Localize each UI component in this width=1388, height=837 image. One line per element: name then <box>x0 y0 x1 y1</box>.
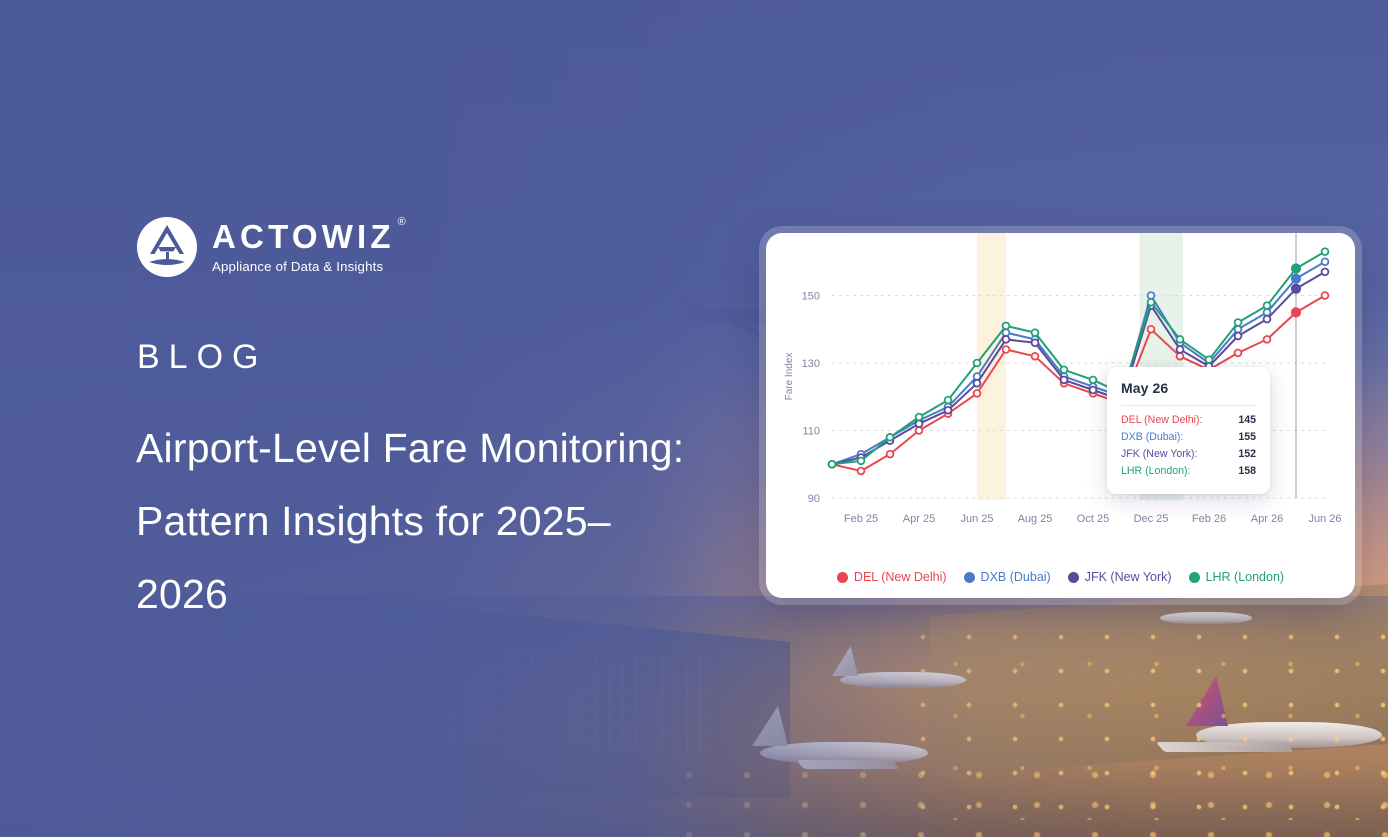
actowiz-a-mark-icon <box>136 216 198 278</box>
legend-label: JFK (New York) <box>1085 570 1172 584</box>
data-point-del[interactable] <box>916 427 923 434</box>
data-point-lhr[interactable] <box>1235 319 1242 326</box>
data-point-jfk[interactable] <box>1090 387 1097 394</box>
data-point-del[interactable] <box>1322 292 1329 299</box>
data-point-lhr[interactable] <box>1177 336 1184 343</box>
tooltip-row-value: 145 <box>1238 414 1256 426</box>
legend-label: DEL (New Delhi) <box>854 570 947 584</box>
page-title: Airport-Level Fare Monitoring: Pattern I… <box>136 412 696 631</box>
tooltip-row: DEL (New Delhi):145 <box>1121 414 1256 426</box>
data-point-lhr[interactable] <box>945 397 952 404</box>
registered-trademark-icon: ® <box>398 216 406 228</box>
data-point-lhr[interactable] <box>1264 302 1271 309</box>
legend-label: DXB (Dubai) <box>981 570 1051 584</box>
tooltip-title: May 26 <box>1121 380 1256 396</box>
legend-dot-icon <box>964 572 975 583</box>
tooltip-row-label: LHR (London): <box>1121 465 1191 477</box>
data-point-del[interactable] <box>1177 353 1184 360</box>
data-point-lhr[interactable] <box>1003 322 1010 329</box>
data-point-lhr[interactable] <box>1322 248 1329 255</box>
legend-item-lhr[interactable]: LHR (London) <box>1189 570 1285 584</box>
x-axis-tick-label: Feb 26 <box>1192 513 1226 525</box>
logo-wordmark: ACTOWIZ <box>212 220 395 253</box>
tooltip-row: DXB (Dubai):155 <box>1121 431 1256 443</box>
x-axis-tick-label: Apr 25 <box>903 513 935 525</box>
legend-item-del[interactable]: DEL (New Delhi) <box>837 570 947 584</box>
data-point-dxb[interactable] <box>1322 258 1329 265</box>
data-point-lhr[interactable] <box>1061 366 1068 373</box>
chart-tooltip: May 26 DEL (New Delhi):145DXB (Dubai):15… <box>1107 367 1270 494</box>
data-point-dxb[interactable] <box>1148 292 1155 299</box>
data-point-dxb[interactable] <box>1292 274 1300 282</box>
data-point-lhr[interactable] <box>829 461 836 468</box>
data-point-del[interactable] <box>1148 326 1155 333</box>
data-point-jfk[interactable] <box>1264 316 1271 323</box>
y-axis-tick-label: 90 <box>808 493 820 505</box>
tooltip-row-label: DXB (Dubai): <box>1121 431 1183 443</box>
data-point-del[interactable] <box>1003 346 1010 353</box>
y-axis-tick-label: 130 <box>802 358 820 370</box>
x-axis-tick-label: Feb 25 <box>844 513 878 525</box>
data-point-lhr[interactable] <box>1292 264 1300 272</box>
x-axis-tick-label: Dec 25 <box>1134 513 1169 525</box>
logo-tagline: Appliance of Data & Insights <box>212 259 395 274</box>
data-point-jfk[interactable] <box>1177 346 1184 353</box>
data-point-jfk[interactable] <box>1292 285 1300 293</box>
tooltip-row-value: 155 <box>1238 431 1256 443</box>
data-point-lhr[interactable] <box>887 434 894 441</box>
data-point-lhr[interactable] <box>974 360 981 367</box>
data-point-jfk[interactable] <box>1003 336 1010 343</box>
y-axis-tick-label: 150 <box>802 291 820 303</box>
y-axis-tick-label: 110 <box>802 426 820 438</box>
data-point-jfk[interactable] <box>1032 339 1039 346</box>
data-point-lhr[interactable] <box>1032 329 1039 336</box>
data-point-lhr[interactable] <box>1148 299 1155 306</box>
data-point-jfk[interactable] <box>916 420 923 427</box>
summer-peak-band <box>977 233 1006 500</box>
x-axis-tick-label: Apr 26 <box>1251 513 1283 525</box>
y-axis-title: Fare Index <box>784 353 795 401</box>
data-point-del[interactable] <box>858 468 865 475</box>
data-point-lhr[interactable] <box>916 414 923 421</box>
actowiz-logo[interactable]: ACTOWIZ ® Appliance of Data & Insights <box>136 216 395 278</box>
legend-dot-icon <box>837 572 848 583</box>
data-point-jfk[interactable] <box>1322 268 1329 275</box>
data-point-lhr[interactable] <box>1090 376 1097 383</box>
legend-dot-icon <box>1189 572 1200 583</box>
data-point-del[interactable] <box>887 451 894 458</box>
category-eyebrow: BLOG <box>137 338 267 377</box>
tooltip-rows: DEL (New Delhi):145DXB (Dubai):155JFK (N… <box>1121 414 1256 477</box>
data-point-del[interactable] <box>974 390 981 397</box>
x-axis-tick-label: Aug 25 <box>1018 513 1053 525</box>
tooltip-row-value: 152 <box>1238 448 1256 460</box>
data-point-del[interactable] <box>1264 336 1271 343</box>
data-point-del[interactable] <box>1292 308 1300 316</box>
x-axis-tick-label: Oct 25 <box>1077 513 1109 525</box>
data-point-lhr[interactable] <box>1206 356 1213 363</box>
legend-item-dxb[interactable]: DXB (Dubai) <box>964 570 1051 584</box>
data-point-jfk[interactable] <box>1061 376 1068 383</box>
x-axis-tick-label: Jun 25 <box>960 513 993 525</box>
data-point-jfk[interactable] <box>945 407 952 414</box>
legend-dot-icon <box>1068 572 1079 583</box>
x-axis-tick-label: Jun 26 <box>1308 513 1341 525</box>
data-point-lhr[interactable] <box>858 457 865 464</box>
tooltip-row-value: 158 <box>1238 465 1256 477</box>
data-point-del[interactable] <box>1032 353 1039 360</box>
legend-item-jfk[interactable]: JFK (New York) <box>1068 570 1172 584</box>
legend-label: LHR (London) <box>1206 570 1285 584</box>
data-point-jfk[interactable] <box>1235 333 1242 340</box>
data-point-del[interactable] <box>1235 349 1242 356</box>
data-point-jfk[interactable] <box>974 380 981 387</box>
tooltip-row-label: JFK (New York): <box>1121 448 1198 460</box>
data-point-dxb[interactable] <box>1264 309 1271 316</box>
tooltip-row: JFK (New York):152 <box>1121 448 1256 460</box>
tooltip-row-label: DEL (New Delhi): <box>1121 414 1202 426</box>
tooltip-divider <box>1121 405 1256 406</box>
chart-legend[interactable]: DEL (New Delhi)DXB (Dubai)JFK (New York)… <box>766 570 1355 584</box>
tooltip-row: LHR (London):158 <box>1121 465 1256 477</box>
